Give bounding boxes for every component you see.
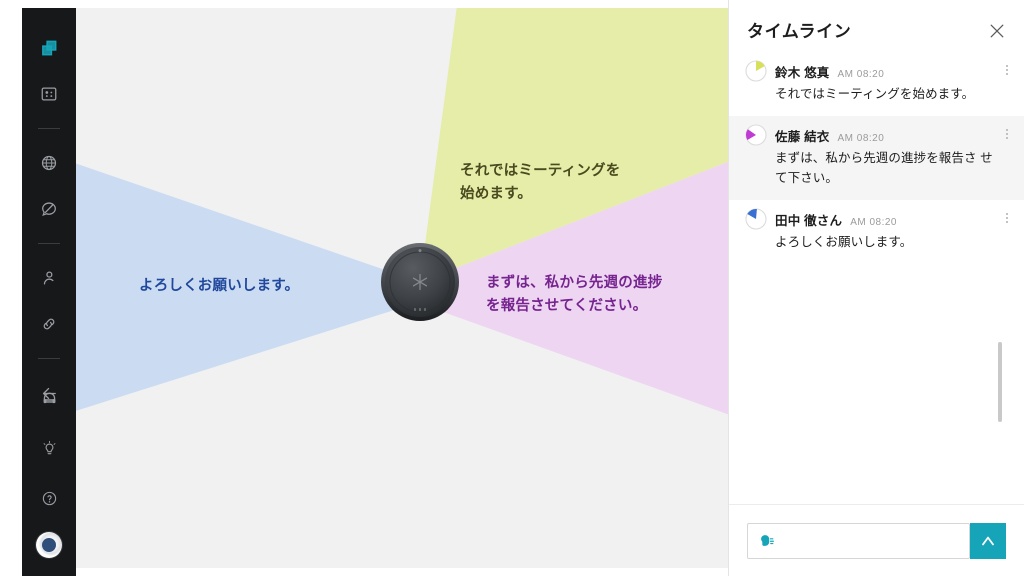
sidebar-item-headset[interactable] (33, 382, 65, 414)
sidebar-item-person[interactable] (33, 262, 65, 294)
more-options-icon[interactable] (1000, 126, 1014, 142)
id-card-icon (40, 85, 58, 103)
timeline-header: タイムライン (729, 0, 1024, 58)
timeline-list[interactable]: 鈴木 悠真 AM 08:20 それではミーティングを始めます。 佐藤 結衣 AM… (729, 52, 1024, 502)
message-text: まずは、私から先週の進捗を報告さ せて下さい。 (775, 149, 998, 188)
composer-input-wrapper[interactable] (747, 523, 970, 559)
message-timestamp: AM 08:20 (850, 217, 897, 228)
help-icon (41, 490, 58, 507)
lightbulb-icon (41, 440, 58, 457)
avatar-inner (42, 538, 56, 552)
speaker-name: 田中 徹さん (775, 210, 842, 229)
meeting-canvas: それではミーティングを 始めます。 まずは、私から先週の進捗 を報告させてくださ… (76, 8, 728, 568)
person-icon (40, 269, 58, 287)
sidebar-item-mute-chat[interactable] (33, 193, 65, 225)
message-timestamp: AM 08:20 (837, 69, 884, 80)
list-item[interactable]: 佐藤 結衣 AM 08:20 まずは、私から先週の進捗を報告さ せて下さい。 (729, 116, 1024, 200)
message-text: よろしくお願いします。 (775, 233, 998, 252)
send-button[interactable] (970, 523, 1006, 559)
close-icon[interactable] (986, 20, 1008, 42)
sidebar-item-tips[interactable] (33, 432, 65, 464)
sector-label-green: それではミーティングを 始めます。 (460, 160, 620, 207)
sidebar-bottom-group (22, 382, 76, 562)
user-avatar[interactable] (36, 532, 62, 558)
list-item[interactable]: 鈴木 悠真 AM 08:20 それではミーティングを始めます。 (729, 52, 1024, 116)
message-meta: 鈴木 悠真 AM 08:20 (775, 62, 998, 81)
chevron-up-icon (981, 534, 995, 548)
speaker-direction-avatar (745, 208, 767, 230)
speaker-name: 佐藤 結衣 (775, 126, 829, 145)
left-sidebar (22, 8, 76, 576)
speaking-head-icon (748, 533, 782, 548)
app-root: それではミーティングを 始めます。 まずは、私から先週の進捗 を報告させてくださ… (0, 0, 1024, 576)
sidebar-divider-1 (38, 128, 60, 129)
message-input[interactable] (782, 525, 969, 557)
sidebar-item-link[interactable] (33, 308, 65, 340)
sidebar-item-help[interactable] (33, 482, 65, 514)
sidebar-item-globe[interactable] (33, 147, 65, 179)
message-composer (729, 504, 1024, 576)
sector-label-purple: まずは、私から先週の進捗 を報告させてください。 (486, 272, 662, 319)
message-text: それではミーティングを始めます。 (775, 85, 998, 104)
globe-icon (40, 154, 58, 172)
sidebar-divider-2 (38, 243, 60, 244)
headset-icon (41, 390, 58, 407)
layers-icon (40, 39, 59, 58)
message-meta: 田中 徹さん AM 08:20 (775, 210, 998, 229)
message-meta: 佐藤 結衣 AM 08:20 (775, 126, 998, 145)
no-chat-icon (40, 200, 58, 218)
speaker-direction-avatar (745, 60, 767, 82)
speaker-name: 鈴木 悠真 (775, 62, 829, 81)
message-timestamp: AM 08:20 (837, 133, 884, 144)
sidebar-divider-3 (38, 358, 60, 359)
timeline-panel: タイムライン 鈴木 悠真 AM 08:20 それでは (728, 0, 1024, 576)
conference-microphone-device[interactable] (380, 242, 460, 322)
sector-label-blue: よろしくお願いします。 (139, 275, 299, 298)
link-icon (40, 315, 58, 333)
sidebar-item-id-card[interactable] (33, 78, 65, 110)
list-item[interactable]: 田中 徹さん AM 08:20 よろしくお願いします。 (729, 200, 1024, 264)
speaker-direction-avatar (745, 124, 767, 146)
more-options-icon[interactable] (1000, 210, 1014, 226)
timeline-scrollbar[interactable] (998, 342, 1002, 422)
page-title: タイムライン (747, 17, 851, 42)
more-options-icon[interactable] (1000, 62, 1014, 78)
sidebar-item-layers[interactable] (33, 32, 65, 64)
